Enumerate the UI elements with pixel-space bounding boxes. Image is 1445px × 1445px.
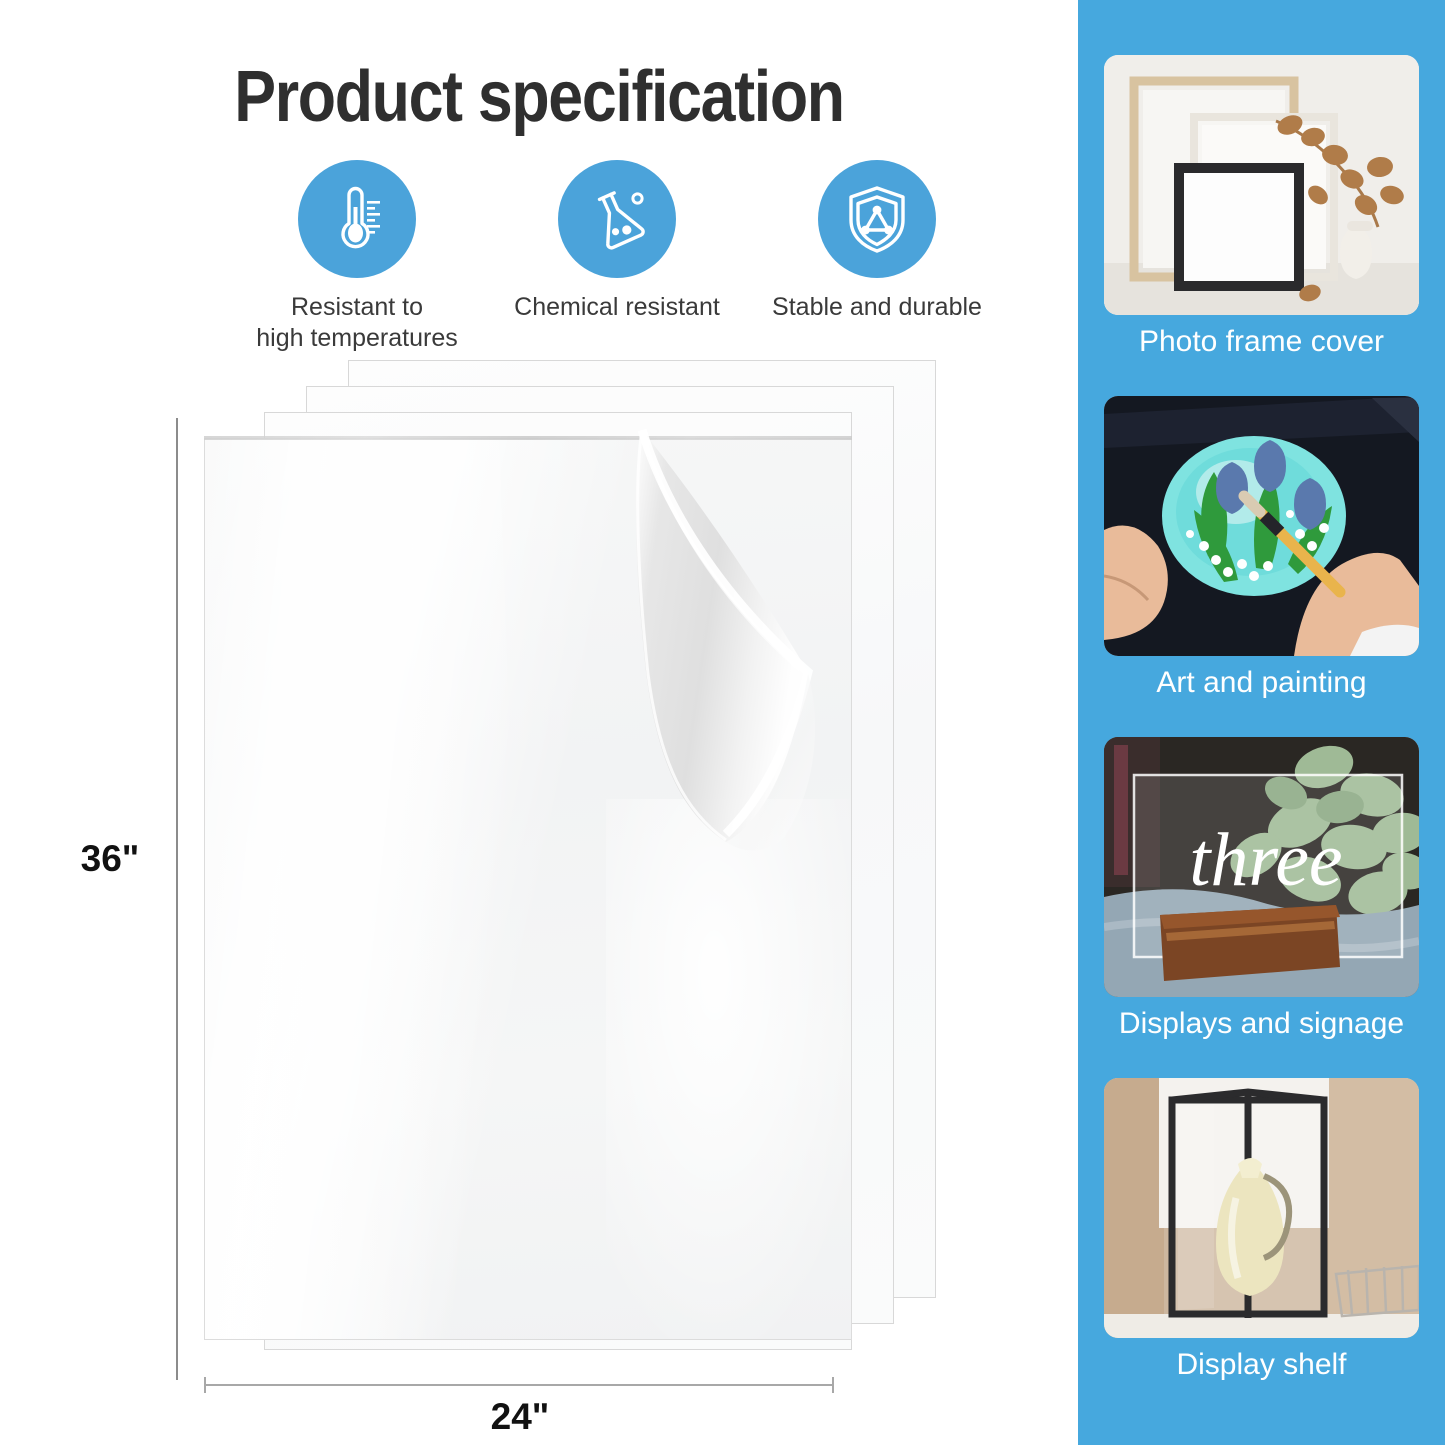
use-case-display-shelf: Display shelf bbox=[1078, 1078, 1445, 1419]
feature-label: Resistant to high temperatures bbox=[256, 292, 458, 353]
acrylic-sheet-top-edge bbox=[204, 436, 852, 440]
feature-label: Chemical resistant bbox=[514, 292, 720, 323]
acrylic-sheet-front bbox=[204, 438, 852, 1340]
feature-badge bbox=[558, 160, 676, 278]
width-dimension-label: 24" bbox=[420, 1396, 620, 1438]
use-case-art-and-painting: Art and painting bbox=[1078, 396, 1445, 737]
use-case-photo-frame-cover: Photo frame cover bbox=[1078, 55, 1445, 396]
shield-icon bbox=[844, 184, 910, 254]
page-title: Product specification bbox=[70, 56, 1008, 138]
feature-resistant-to-high-temperatures: Resistant to high temperatures bbox=[232, 160, 482, 353]
feature-stable-and-durable: Stable and durable bbox=[752, 160, 1002, 323]
acrylic-table-number-sign-three-photo: three bbox=[1104, 737, 1419, 997]
width-dimension-line bbox=[204, 1384, 834, 1386]
height-dimension-line bbox=[176, 418, 178, 1380]
feature-badge bbox=[818, 160, 936, 278]
thermometer-icon bbox=[326, 185, 388, 253]
picture-frames-with-dried-branch-photo bbox=[1104, 55, 1419, 315]
use-cases-sidebar: Photo frame cover bbox=[1078, 0, 1445, 1445]
feature-highlights-row: Resistant to high temperatures bbox=[232, 160, 1002, 350]
product-specification-panel: Product specification bbox=[0, 0, 1078, 1445]
feature-badge bbox=[298, 160, 416, 278]
feature-label: Stable and durable bbox=[772, 292, 982, 323]
svg-text:three: three bbox=[1189, 818, 1342, 902]
use-case-label: Art and painting bbox=[1156, 666, 1366, 699]
acrylic-sheet-stack bbox=[196, 360, 956, 1340]
use-case-label: Photo frame cover bbox=[1139, 325, 1384, 358]
feature-chemical-resistant: Chemical resistant bbox=[492, 160, 742, 323]
black-framed-glass-display-case-photo bbox=[1104, 1078, 1419, 1338]
flask-icon bbox=[583, 185, 651, 253]
height-dimension-label: 36" bbox=[60, 838, 160, 880]
use-case-displays-and-signage: three Displays and signage bbox=[1078, 737, 1445, 1078]
use-case-label: Display shelf bbox=[1176, 1348, 1346, 1381]
hands-painting-tulips-on-acrylic-photo bbox=[1104, 396, 1419, 656]
use-case-label: Displays and signage bbox=[1119, 1007, 1404, 1040]
